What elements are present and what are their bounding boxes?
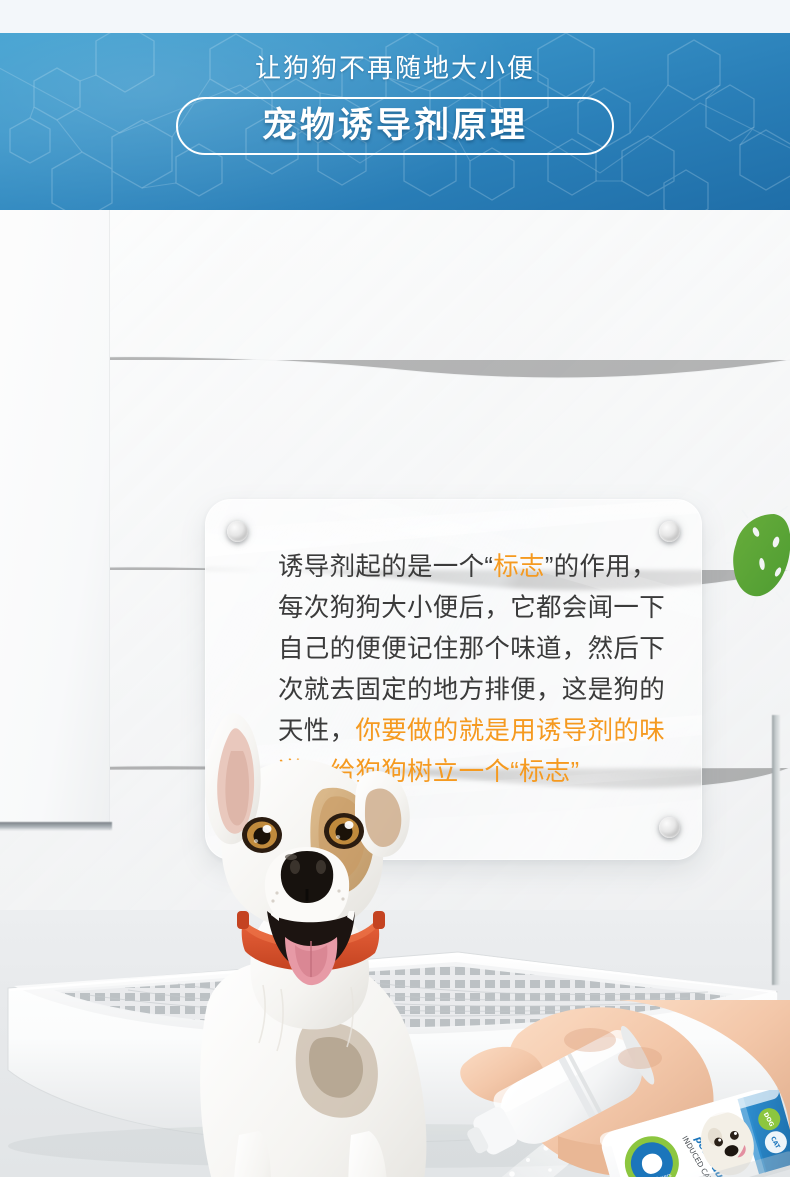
panel-screw-top-right	[659, 521, 680, 542]
white-cabinet	[0, 210, 110, 830]
highlight-text: 标志	[493, 553, 545, 581]
highlight-text: 标志	[519, 758, 571, 786]
body-text: “	[484, 553, 493, 581]
cabinet-shadow	[0, 822, 112, 831]
highlight-text: “	[510, 758, 519, 786]
highlight-text: ”	[571, 758, 580, 786]
body-text: 每次狗狗大小便后，它都会闻一下	[278, 594, 665, 622]
body-text: 自己的便便记住那个味道，然后下	[278, 635, 665, 663]
product-scene-photo: 诱导剂起的是一个“标志”的作用， 每次狗狗大小便后，它都会闻一下 自己的便便记住…	[0, 210, 790, 1177]
banner-title: 宠物诱导剂原理	[262, 109, 528, 144]
panel-screw-bottom-right	[659, 817, 680, 838]
banner-title-pill: 宠物诱导剂原理	[176, 97, 614, 155]
body-text: 诱导剂起的是一个	[278, 553, 484, 581]
body-text: 次就去固定的地方排便，这是狗的	[278, 676, 665, 704]
product-bottle: pet inducers INDUCED CAT AND DOG pet ind…	[600, 1090, 790, 1177]
banner-header: 让狗狗不再随地大小便 宠物诱导剂原理	[0, 33, 790, 210]
panel-screw-top-left	[227, 521, 248, 542]
body-text: 的作用，	[554, 553, 657, 581]
panel-line: 每次狗狗大小便后，它都会闻一下	[278, 588, 688, 629]
monstera-leaf-icon	[726, 506, 790, 614]
product-detail-page: 让狗狗不再随地大小便 宠物诱导剂原理	[0, 0, 790, 1177]
top-spacer-strip	[0, 0, 790, 33]
panel-line: 诱导剂起的是一个“标志”的作用，	[278, 547, 688, 588]
body-text: ”	[545, 553, 554, 581]
banner-subtitle: 让狗狗不再随地大小便	[255, 55, 535, 81]
panel-line: 自己的便便记住那个味道，然后下	[278, 629, 688, 670]
